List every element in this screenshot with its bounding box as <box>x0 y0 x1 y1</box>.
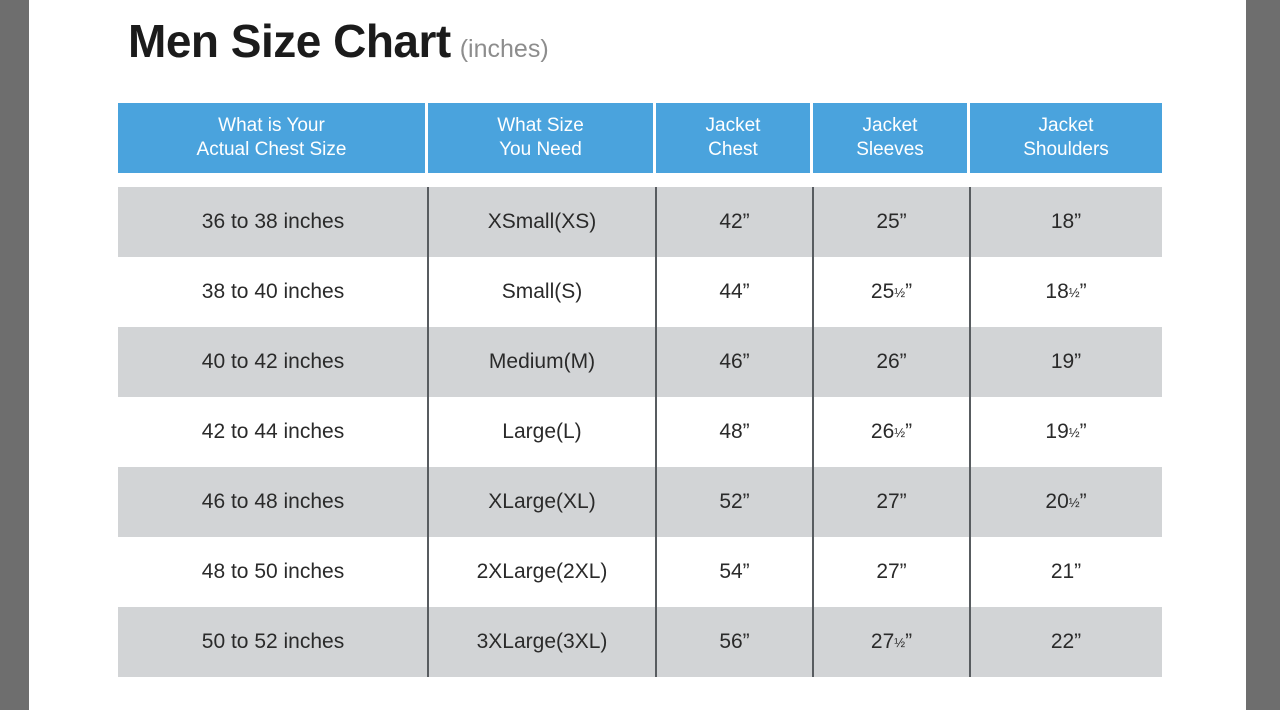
cell-jacket-sleeves: 26½” <box>813 397 970 467</box>
table-row: 36 to 38 inchesXSmall(XS)42”25”18” <box>118 187 1162 257</box>
cell-jacket-sleeves: 25” <box>813 187 970 257</box>
table-row: 42 to 44 inchesLarge(L)48”26½”19½” <box>118 397 1162 467</box>
cell-size: XLarge(XL) <box>428 467 656 537</box>
cell-chest-range: 46 to 48 inches <box>118 467 428 537</box>
column-header-line2: You Need <box>499 138 582 162</box>
cell-jacket-chest: 54” <box>656 537 813 607</box>
cell-size: 3XLarge(3XL) <box>428 607 656 677</box>
table-body: 36 to 38 inchesXSmall(XS)42”25”18”38 to … <box>118 187 1162 677</box>
column-header-size-you-need: What Size You Need <box>428 103 656 173</box>
cell-chest-range: 48 to 50 inches <box>118 537 428 607</box>
cell-jacket-shoulders: 19” <box>970 327 1162 397</box>
cell-jacket-shoulders: 21” <box>970 537 1162 607</box>
column-header-line2: Actual Chest Size <box>197 138 347 162</box>
cell-size: 2XLarge(2XL) <box>428 537 656 607</box>
letterbox-left <box>0 0 29 710</box>
cell-chest-range: 38 to 40 inches <box>118 257 428 327</box>
cell-size: Large(L) <box>428 397 656 467</box>
cell-jacket-shoulders: 20½” <box>970 467 1162 537</box>
header-body-gap <box>118 173 1162 187</box>
page-title-units: (inches) <box>460 37 549 62</box>
table-row: 48 to 50 inches2XLarge(2XL)54”27”21” <box>118 537 1162 607</box>
letterbox-right <box>1246 0 1280 710</box>
column-header-line2: Shoulders <box>1023 138 1109 162</box>
column-header-line2: Chest <box>708 138 758 162</box>
cell-chest-range: 42 to 44 inches <box>118 397 428 467</box>
table-row: 50 to 52 inches3XLarge(3XL)56”27½”22” <box>118 607 1162 677</box>
cell-jacket-shoulders: 18” <box>970 187 1162 257</box>
column-header-actual-chest-size: What is Your Actual Chest Size <box>118 103 428 173</box>
table-row: 38 to 40 inchesSmall(S)44”25½”18½” <box>118 257 1162 327</box>
cell-jacket-chest: 56” <box>656 607 813 677</box>
chart-page: Men Size Chart (inches) What is Your Act… <box>29 0 1246 710</box>
column-header-jacket-sleeves: Jacket Sleeves <box>813 103 970 173</box>
column-header-line1: What Size <box>497 114 584 138</box>
cell-jacket-shoulders: 22” <box>970 607 1162 677</box>
cell-size: Small(S) <box>428 257 656 327</box>
column-header-line2: Sleeves <box>856 138 924 162</box>
cell-jacket-chest: 52” <box>656 467 813 537</box>
cell-jacket-chest: 44” <box>656 257 813 327</box>
cell-jacket-chest: 42” <box>656 187 813 257</box>
cell-jacket-chest: 46” <box>656 327 813 397</box>
cell-jacket-sleeves: 26” <box>813 327 970 397</box>
column-header-jacket-chest: Jacket Chest <box>656 103 813 173</box>
table-row: 46 to 48 inchesXLarge(XL)52”27”20½” <box>118 467 1162 537</box>
cell-size: Medium(M) <box>428 327 656 397</box>
cell-jacket-sleeves: 27” <box>813 467 970 537</box>
table-header-row: What is Your Actual Chest Size What Size… <box>118 103 1162 173</box>
cell-chest-range: 40 to 42 inches <box>118 327 428 397</box>
cell-jacket-sleeves: 27½” <box>813 607 970 677</box>
column-header-line1: Jacket <box>863 114 918 138</box>
size-chart-table: What is Your Actual Chest Size What Size… <box>118 103 1162 677</box>
cell-jacket-sleeves: 25½” <box>813 257 970 327</box>
cell-size: XSmall(XS) <box>428 187 656 257</box>
table-row: 40 to 42 inchesMedium(M)46”26”19” <box>118 327 1162 397</box>
page-title: Men Size Chart (inches) <box>128 18 549 64</box>
column-header-line1: What is Your <box>218 114 325 138</box>
column-header-line1: Jacket <box>706 114 761 138</box>
column-header-line1: Jacket <box>1039 114 1094 138</box>
cell-jacket-chest: 48” <box>656 397 813 467</box>
cell-jacket-shoulders: 18½” <box>970 257 1162 327</box>
cell-jacket-shoulders: 19½” <box>970 397 1162 467</box>
cell-chest-range: 36 to 38 inches <box>118 187 428 257</box>
page-title-main: Men Size Chart <box>128 18 451 64</box>
column-header-jacket-shoulders: Jacket Shoulders <box>970 103 1162 173</box>
cell-chest-range: 50 to 52 inches <box>118 607 428 677</box>
cell-jacket-sleeves: 27” <box>813 537 970 607</box>
